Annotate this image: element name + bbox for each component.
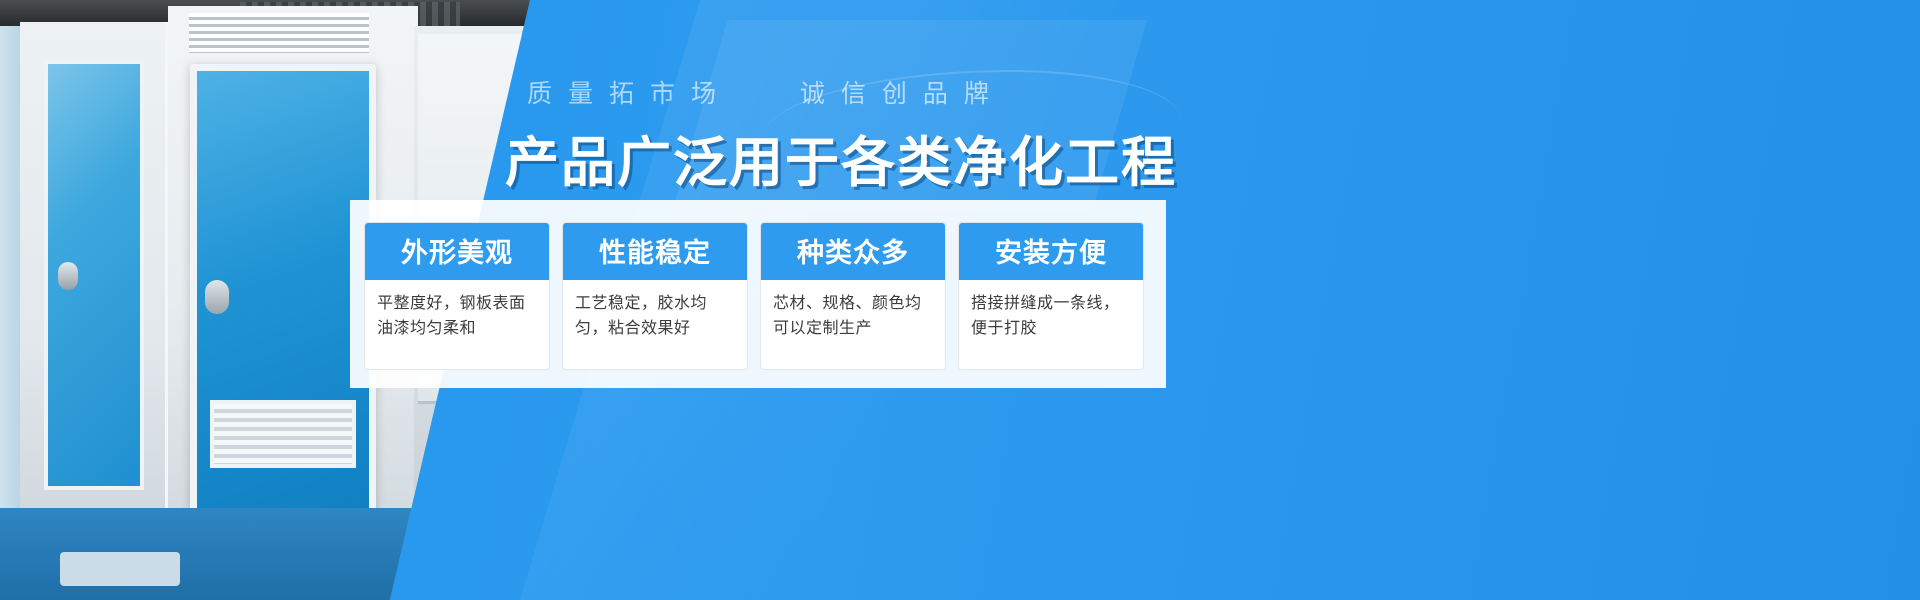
feature-card-body: 平整度好，钢板表面油漆均匀柔和 (365, 280, 549, 341)
left-photo-floor-pad (60, 552, 180, 586)
tagline-part-1: 质量拓市场 (527, 80, 732, 108)
left-photo-vent-louver (186, 10, 372, 56)
left-photo-cabin-a-lock (58, 262, 78, 290)
promo-banner: 质量拓市场 诚信创品牌 产品广泛用于各类净化工程 外形美观 平整度好，钢板表面油… (0, 0, 1920, 600)
feature-card[interactable]: 种类众多 芯材、规格、颜色均可以定制生产 (760, 222, 946, 370)
feature-card-title: 性能稳定 (562, 222, 748, 280)
banner-headline: 产品广泛用于各类净化工程 (505, 118, 1177, 197)
feature-card[interactable]: 性能稳定 工艺稳定，胶水均匀，粘合效果好 (562, 222, 748, 370)
feature-card[interactable]: 外形美观 平整度好，钢板表面油漆均匀柔和 (364, 222, 550, 370)
feature-card-title: 安装方便 (958, 222, 1144, 280)
feature-card-title: 种类众多 (760, 222, 946, 280)
feature-card-body: 芯材、规格、颜色均可以定制生产 (761, 280, 945, 341)
feature-card-title: 外形美观 (364, 222, 550, 280)
left-photo-door-handle (205, 280, 229, 314)
feature-card[interactable]: 安装方便 搭接拼缝成一条线，便于打胶 (958, 222, 1144, 370)
tagline-part-2: 诚信创品牌 (800, 80, 1005, 108)
feature-card-strip: 外形美观 平整度好，钢板表面油漆均匀柔和 性能稳定 工艺稳定，胶水均匀，粘合效果… (350, 200, 1166, 388)
left-photo-door-louver (210, 400, 356, 468)
banner-tagline: 质量拓市场 诚信创品牌 (527, 74, 1005, 110)
feature-card-body: 工艺稳定，胶水均匀，粘合效果好 (563, 280, 747, 341)
feature-card-body: 搭接拼缝成一条线，便于打胶 (959, 280, 1143, 341)
